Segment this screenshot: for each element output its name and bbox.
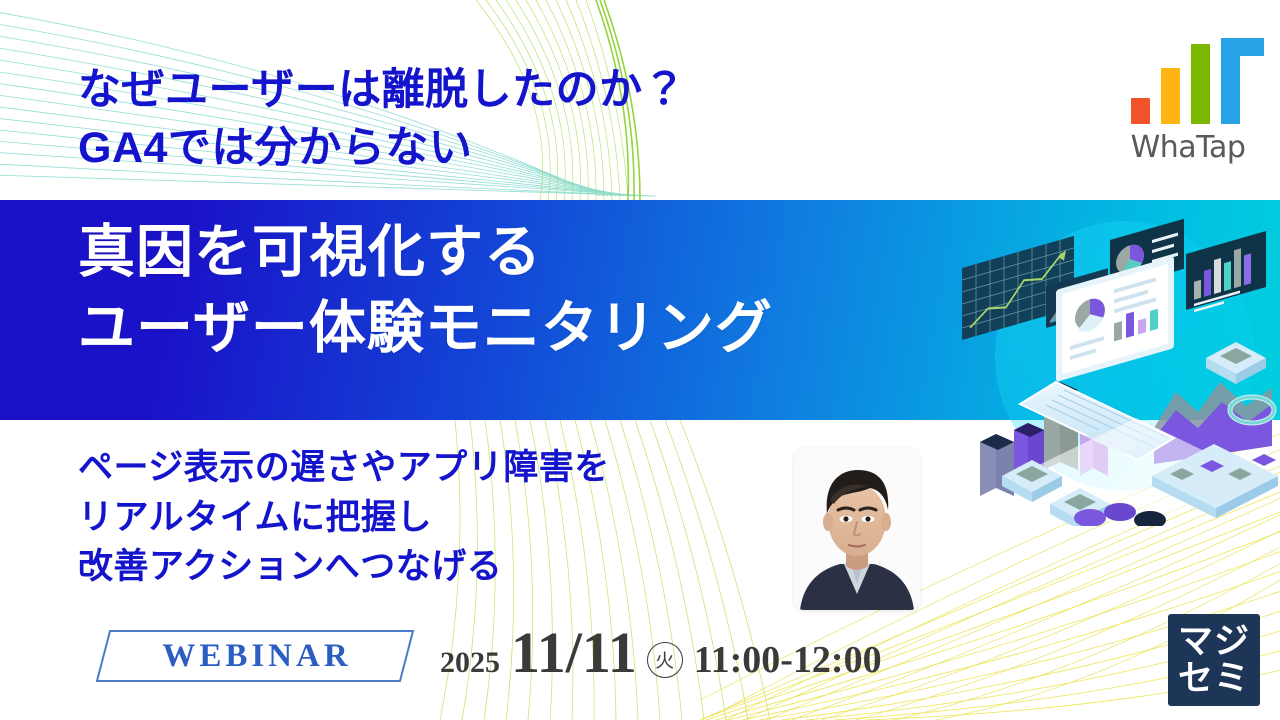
webinar-banner: なぜユーザーは離脱したのか？ GA4では分からない WhaTap: [0, 0, 1280, 720]
date-time-range: 11:00-12:00: [694, 638, 882, 682]
whatap-bar-green: [1191, 44, 1210, 124]
majisemi-line-2: セミ: [1178, 660, 1250, 697]
webinar-datetime: 2025 11/11 火 11:00-12:00: [440, 624, 882, 686]
page-headline: なぜユーザーは離脱したのか？ GA4では分からない: [78, 62, 838, 177]
webinar-badge-label: WEBINAR: [95, 629, 415, 683]
whatap-wordmark: WhaTap: [1122, 130, 1254, 165]
whatap-flag-top: [1221, 38, 1264, 56]
whatap-logo: WhaTap: [1122, 38, 1254, 178]
isometric-analytics-dashboard-illustration: [940, 196, 1280, 526]
whatap-bar-chart-icon: [1129, 38, 1247, 124]
date-month-day: 11/11: [511, 624, 637, 682]
majisemi-line-1: マジ: [1178, 623, 1250, 660]
page-subtitle: ページ表示の遅さやアプリ障害を リアルタイムに把握し 改善アクションへつなげる: [78, 443, 778, 592]
whatap-bar-amber: [1161, 68, 1180, 124]
date-day-of-week: 火: [647, 642, 683, 678]
date-year: 2025: [440, 646, 500, 680]
page-title: 真因を可視化する ユーザー体験モニタリング: [78, 215, 978, 367]
speaker-portrait: [794, 448, 920, 610]
webinar-badge: WEBINAR: [95, 629, 415, 683]
whatap-bar-red: [1131, 98, 1150, 124]
majisemi-logo: マジ セミ: [1168, 614, 1260, 706]
